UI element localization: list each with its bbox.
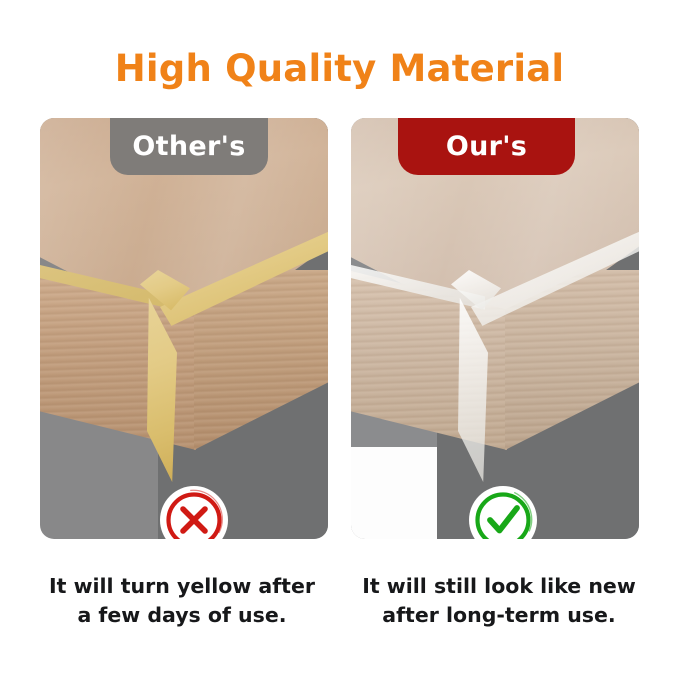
status-icon-cross-wrapper [157, 483, 231, 539]
caption-ours-line1: It will still look like new [339, 572, 659, 601]
comparison-panel-other [40, 118, 328, 539]
page-title: High Quality Material [0, 47, 679, 91]
caption-ours: It will still look like new after long-t… [339, 572, 659, 630]
background-white-strip [351, 447, 437, 539]
status-icon-check-wrapper [466, 483, 540, 539]
caption-other: It will turn yellow after a few days of … [22, 572, 342, 630]
check-icon [466, 483, 540, 539]
cross-icon [157, 483, 231, 539]
caption-other-line2: a few days of use. [22, 601, 342, 630]
caption-ours-line2: after long-term use. [339, 601, 659, 630]
caption-other-line1: It will turn yellow after [22, 572, 342, 601]
badge-ours: Our's [398, 118, 575, 175]
badge-other: Other's [110, 118, 268, 175]
comparison-panel-ours [351, 118, 639, 539]
